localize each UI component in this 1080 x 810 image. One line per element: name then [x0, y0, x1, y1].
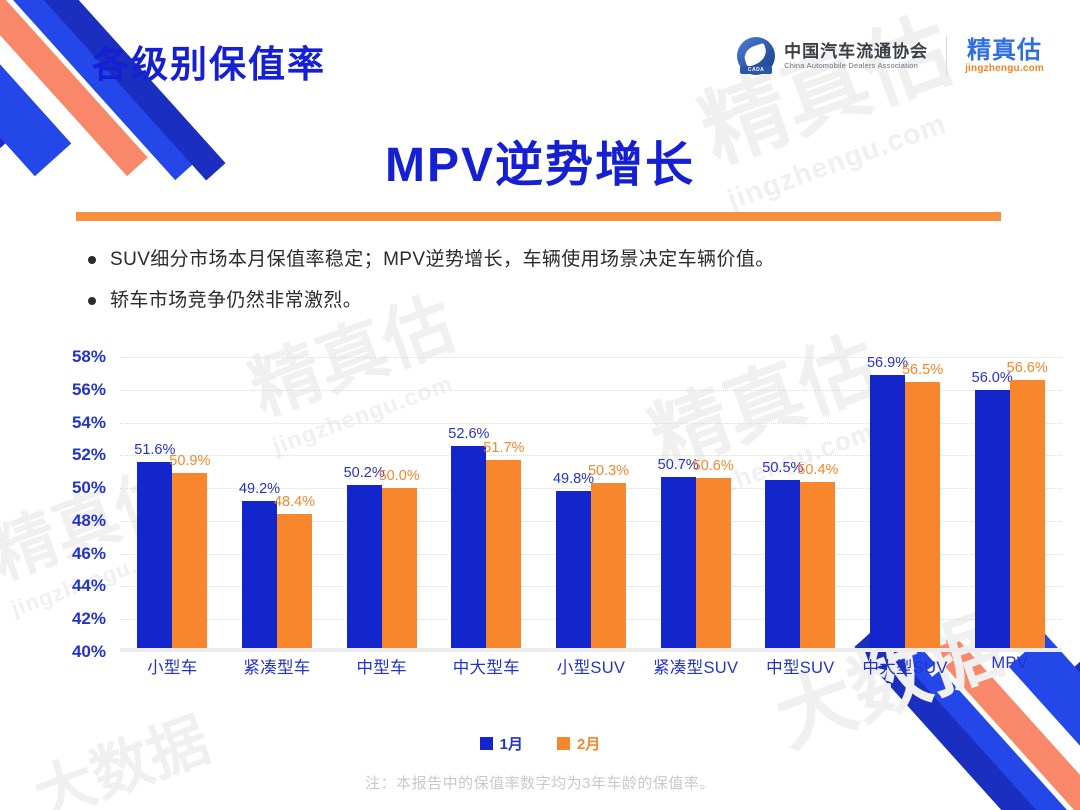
- cada-emblem-icon: CADA: [737, 37, 775, 75]
- header-title: 各级别保值率: [92, 34, 326, 88]
- axis-baseline: [120, 648, 1062, 652]
- legend-item-series1[interactable]: 1月: [480, 733, 523, 754]
- bar-series2[interactable]: 50.6%: [696, 478, 731, 652]
- bar-value-label: 50.4%: [797, 462, 838, 478]
- bar-series1[interactable]: 50.5%: [765, 480, 800, 652]
- bar-series2[interactable]: 48.4%: [277, 514, 312, 652]
- bar-groups: 51.6%50.9%49.2%48.4%50.2%50.0%52.6%51.7%…: [120, 357, 1062, 652]
- bar-series2[interactable]: 50.3%: [591, 483, 626, 652]
- bar-value-label: 51.7%: [483, 440, 524, 456]
- bar-group: 51.6%50.9%: [120, 357, 225, 652]
- bar-series1[interactable]: 56.0%: [975, 390, 1010, 652]
- bullet-text: 轿车市场竞争仍然非常激烈。: [110, 286, 362, 315]
- bullet-dot-icon: [88, 297, 96, 305]
- y-axis-tick-label: 44%: [72, 576, 106, 596]
- bar-value-label: 50.0%: [379, 468, 420, 484]
- bar-series2[interactable]: 50.0%: [382, 488, 417, 652]
- y-axis-tick-label: 40%: [72, 642, 106, 662]
- bar-group: 49.8%50.3%: [539, 357, 644, 652]
- jingzhengu-logo: 精真估 jingzhengu.com: [965, 38, 1044, 74]
- x-axis-tick-label: 中型车: [329, 654, 434, 684]
- bar-series1[interactable]: 50.2%: [347, 485, 382, 652]
- title-divider-rule: [76, 212, 1001, 221]
- bar-series1[interactable]: 56.9%: [870, 375, 905, 652]
- jzg-logo-cn: 精真估: [965, 38, 1044, 63]
- bar-series1[interactable]: 50.7%: [661, 477, 696, 652]
- x-axis-tick-label: MPV: [957, 654, 1062, 684]
- legend-item-series2[interactable]: 2月: [557, 733, 600, 754]
- bar-group: 56.9%56.5%: [853, 357, 958, 652]
- y-axis-tick-label: 46%: [72, 544, 106, 564]
- x-axis-tick-label: 中型SUV: [748, 654, 853, 684]
- chart-legend: 1月 2月: [0, 733, 1080, 754]
- bar-value-label: 50.3%: [588, 463, 629, 479]
- list-item: 轿车市场竞争仍然非常激烈。: [88, 286, 968, 315]
- y-axis-tick-label: 52%: [72, 445, 106, 465]
- bar-chart: 58%56%54%52%50%48%46%44%42%40% 51.6%50.9…: [0, 345, 1080, 690]
- bar-series2[interactable]: 56.5%: [905, 382, 940, 652]
- bar-group: 50.7%50.6%: [643, 357, 748, 652]
- bar-series2[interactable]: 56.6%: [1010, 380, 1045, 652]
- x-axis-tick-label: 紧凑型车: [225, 654, 330, 684]
- bar-group: 50.5%50.4%: [748, 357, 853, 652]
- cada-logo: CADA 中国汽车流通协会 China Automobile Dealers A…: [737, 37, 928, 75]
- bar-series2[interactable]: 51.7%: [486, 460, 521, 652]
- y-axis-tick-label: 54%: [72, 413, 106, 433]
- bullet-dot-icon: [88, 256, 96, 264]
- legend-swatch-icon: [557, 737, 570, 750]
- bullet-text: SUV细分市场本月保值率稳定；MPV逆势增长，车辆使用场景决定车辆价值。: [110, 245, 775, 274]
- bar-series1[interactable]: 49.2%: [242, 501, 277, 652]
- logo-divider: [946, 36, 947, 76]
- bar-group: 56.0%56.6%: [957, 357, 1062, 652]
- plot-area: 51.6%50.9%49.2%48.4%50.2%50.0%52.6%51.7%…: [120, 357, 1062, 652]
- footnote: 注：本报告中的保值率数字均为3年车龄的保值率。: [0, 772, 1080, 793]
- logo-group: CADA 中国汽车流通协会 China Automobile Dealers A…: [737, 36, 1044, 76]
- bar-value-label: 50.9%: [169, 453, 210, 469]
- y-axis-tick-label: 58%: [72, 347, 106, 367]
- y-axis-tick-label: 56%: [72, 380, 106, 400]
- slide: 精真估jingzhengu.com 精真估jingzhengu.com 精真估j…: [0, 0, 1080, 810]
- bar-series1[interactable]: 49.8%: [556, 491, 591, 652]
- cada-logo-cn: 中国汽车流通协会: [784, 42, 928, 62]
- list-item: SUV细分市场本月保值率稳定；MPV逆势增长，车辆使用场景决定车辆价值。: [88, 245, 968, 274]
- bar-series2[interactable]: 50.9%: [172, 473, 207, 652]
- x-axis-labels: 小型车紧凑型车中型车中大型车小型SUV紧凑型SUV中型SUV中大型SUVMPV: [120, 654, 1062, 684]
- bar-value-label: 52.6%: [448, 426, 489, 442]
- bar-value-label: 56.5%: [902, 362, 943, 378]
- bullet-list: SUV细分市场本月保值率稳定；MPV逆势增长，车辆使用场景决定车辆价值。 轿车市…: [88, 245, 968, 328]
- bar-group: 52.6%51.7%: [434, 357, 539, 652]
- page-title: MPV逆势增长: [0, 125, 1080, 195]
- legend-label: 1月: [500, 733, 523, 754]
- y-axis-labels: 58%56%54%52%50%48%46%44%42%40%: [0, 345, 120, 690]
- x-axis-tick-label: 紧凑型SUV: [643, 654, 748, 684]
- jzg-logo-en: jingzhengu.com: [965, 63, 1044, 74]
- bar-value-label: 48.4%: [274, 494, 315, 510]
- bar-series2[interactable]: 50.4%: [800, 482, 835, 652]
- x-axis-tick-label: 中大型SUV: [853, 654, 958, 684]
- x-axis-tick-label: 小型车: [120, 654, 225, 684]
- y-axis-tick-label: 42%: [72, 609, 106, 629]
- x-axis-tick-label: 小型SUV: [539, 654, 644, 684]
- y-axis-tick-label: 48%: [72, 511, 106, 531]
- bar-value-label: 56.6%: [1007, 360, 1048, 376]
- y-axis-tick-label: 50%: [72, 478, 106, 498]
- x-axis-tick-label: 中大型车: [434, 654, 539, 684]
- legend-swatch-icon: [480, 737, 493, 750]
- bar-series1[interactable]: 51.6%: [137, 462, 172, 652]
- bar-value-label: 50.6%: [693, 458, 734, 474]
- legend-label: 2月: [577, 733, 600, 754]
- bar-group: 50.2%50.0%: [329, 357, 434, 652]
- bar-series1[interactable]: 52.6%: [451, 446, 486, 653]
- cada-logo-en: China Automobile Dealers Association: [784, 61, 928, 70]
- bar-group: 49.2%48.4%: [225, 357, 330, 652]
